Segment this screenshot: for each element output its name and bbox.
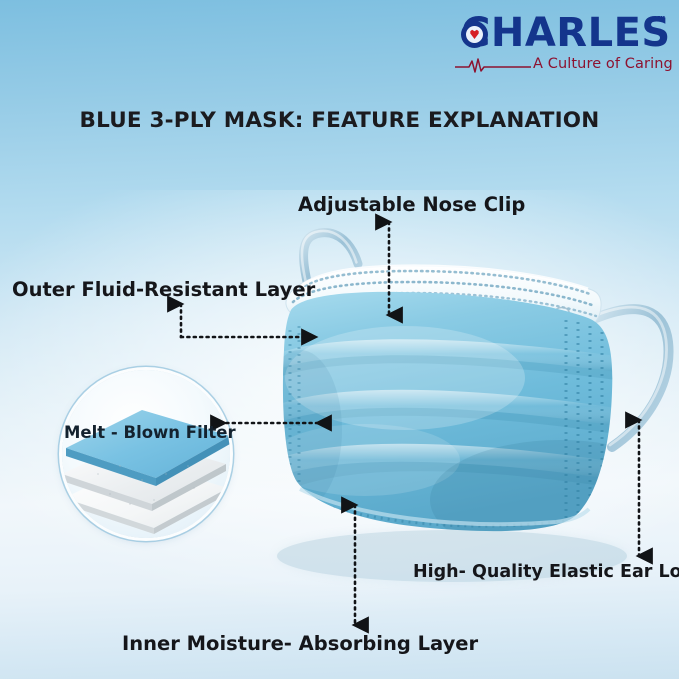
brand-wordmark: CHARLES	[461, 12, 671, 54]
melt-blown-filter-detail-circle	[62, 370, 230, 538]
brand-logo: CHARLES ™ A Culture of Caring	[455, 12, 667, 74]
callout-label-inner-layer: Inner Moisture- Absorbing Layer	[122, 632, 478, 655]
brand-tagline: A Culture of Caring	[533, 56, 673, 72]
mask-feature-infographic: CHARLES ™ A Culture of Caring BLUE 3-PLY…	[0, 0, 679, 679]
filter-layers-illustration	[62, 370, 230, 538]
heartbeat-line-icon	[455, 58, 531, 74]
callout-label-nose-clip: Adjustable Nose Clip	[298, 193, 525, 216]
callout-label-melt-blown: Melt - Blown Filter	[64, 423, 236, 442]
callout-label-ear-loops: High- Quality Elastic Ear Loops	[413, 562, 679, 582]
page-title: BLUE 3-PLY MASK: FEATURE EXPLANATION	[0, 108, 679, 133]
callout-label-outer-layer: Outer Fluid-Resistant Layer	[12, 278, 315, 301]
trademark-symbol: ™	[656, 14, 667, 27]
